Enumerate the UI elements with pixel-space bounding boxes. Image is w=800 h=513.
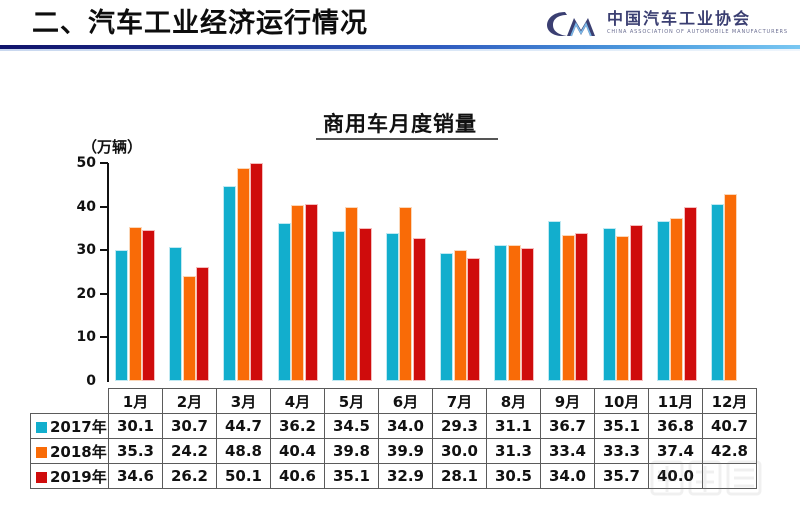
logo-text: 中国汽车工业协会 CHINA ASSOCIATION OF AUTOMOBILE… [607,10,788,36]
legend-item-2019年: 2019年 [31,464,109,489]
table-row: 2017年30.130.744.736.234.534.029.331.136.… [31,414,757,439]
logo-english-name: CHINA ASSOCIATION OF AUTOMOBILE MANUFACT… [607,28,788,37]
bar-group [548,163,588,381]
table-column-header-3: 3月 [217,389,271,414]
table-cell: 31.3 [487,439,541,464]
bar-2018年-6月 [399,207,412,381]
slide-header: 二、汽车工业经济运行情况 中国汽车工业协会 CHINA ASSOCIATION … [0,0,800,52]
table-cell [703,464,757,489]
legend-item-2018年: 2018年 [31,439,109,464]
table-cell: 50.1 [217,464,271,489]
bar-2018年-12月 [724,194,737,381]
table-cell: 30.7 [163,414,217,439]
bar-2018年-11月 [670,218,683,381]
bar-group [657,163,697,381]
bar-2017年-1月 [115,250,128,381]
table-column-header-11: 11月 [649,389,703,414]
header-divider-shadow [0,49,800,51]
table-cell: 44.7 [217,414,271,439]
table-cell: 40.0 [649,464,703,489]
bar-2019年-6月 [413,238,426,381]
bar-group [332,163,372,381]
y-axis-tick-mark [100,206,108,208]
legend-label: 2018年 [50,443,107,461]
y-axis-tick-label: 30 [62,242,96,258]
table-column-header-7: 7月 [433,389,487,414]
chart-title: 商用车月度销量 [0,108,800,138]
bar-2017年-9月 [548,221,561,381]
table-cell: 40.7 [703,414,757,439]
table-column-header-10: 10月 [595,389,649,414]
legend-label: 2019年 [50,468,107,486]
logo-chinese-name: 中国汽车工业协会 [607,10,788,28]
cam-logo-icon [545,8,599,38]
table-cell: 35.7 [595,464,649,489]
bar-2018年-5月 [345,207,358,381]
bar-2018年-4月 [291,205,304,381]
table-column-header-6: 6月 [379,389,433,414]
y-axis-tick-label: 50 [62,155,96,171]
bar-2019年-7月 [467,258,480,381]
y-axis-tick-mark [100,162,108,164]
table-cell: 31.1 [487,414,541,439]
table-body: 2017年30.130.744.736.234.534.029.331.136.… [31,414,757,489]
bar-2019年-1月 [142,230,155,381]
bar-2018年-7月 [454,250,467,381]
bar-2017年-2月 [169,247,182,381]
table-row: 2018年35.324.248.840.439.839.930.031.333.… [31,439,757,464]
legend-swatch-icon [36,447,47,458]
table-column-header-2: 2月 [163,389,217,414]
bar-2017年-10月 [603,228,616,381]
table-cell: 33.4 [541,439,595,464]
association-logo: 中国汽车工业协会 CHINA ASSOCIATION OF AUTOMOBILE… [545,8,788,38]
bar-group [711,163,751,381]
table-column-header-5: 5月 [325,389,379,414]
table-header-row: 1月2月3月4月5月6月7月8月9月10月11月12月 [31,389,757,414]
table-cell: 33.3 [595,439,649,464]
table-cell: 36.7 [541,414,595,439]
table-column-header-9: 9月 [541,389,595,414]
table-cell: 29.3 [433,414,487,439]
bar-2019年-4月 [305,204,318,381]
chart-plot-area [108,163,758,381]
bar-2019年-5月 [359,228,372,381]
bar-2017年-11月 [657,221,670,381]
table-cell: 34.6 [109,464,163,489]
table-corner-cell [31,389,109,414]
y-axis-tick-mark [100,336,108,338]
bar-2019年-3月 [250,163,263,381]
table-cell: 39.8 [325,439,379,464]
page-title: 二、汽车工业经济运行情况 [32,6,368,42]
bar-2019年-11月 [684,207,697,381]
bar-2018年-2月 [183,276,196,382]
bar-2018年-1月 [129,227,142,381]
legend-swatch-icon [36,472,47,483]
table-cell: 30.0 [433,439,487,464]
table-cell: 42.8 [703,439,757,464]
table-cell: 35.1 [325,464,379,489]
table-cell: 40.6 [271,464,325,489]
legend-item-2017年: 2017年 [31,414,109,439]
bar-2017年-3月 [223,186,236,381]
bar-2019年-2月 [196,267,209,381]
bar-2017年-12月 [711,204,724,381]
table-cell: 34.5 [325,414,379,439]
y-axis-tick-label: 0 [62,373,96,389]
table-cell: 26.2 [163,464,217,489]
bar-group [603,163,643,381]
y-axis-tick-mark [100,249,108,251]
y-axis-tick-mark [100,293,108,295]
data-table: 1月2月3月4月5月6月7月8月9月10月11月12月 2017年30.130.… [30,388,757,489]
bar-2017年-4月 [278,223,291,381]
table-cell: 37.4 [649,439,703,464]
bar-group [169,163,209,381]
table-cell: 30.1 [109,414,163,439]
bar-2018年-3月 [237,168,250,381]
bar-group [223,163,263,381]
legend-label: 2017年 [50,418,107,436]
table-row: 2019年34.626.250.140.635.132.928.130.534.… [31,464,757,489]
table-cell: 39.9 [379,439,433,464]
bar-2017年-7月 [440,253,453,381]
table-column-header-8: 8月 [487,389,541,414]
bar-2017年-8月 [494,245,507,381]
table-cell: 30.5 [487,464,541,489]
table-cell: 40.4 [271,439,325,464]
chart-title-underline [316,138,498,140]
table-cell: 28.1 [433,464,487,489]
bar-2019年-9月 [575,233,588,381]
bar-group [278,163,318,381]
bar-2017年-6月 [386,233,399,381]
y-axis-tick-label: 10 [62,329,96,345]
table-cell: 35.3 [109,439,163,464]
bar-group [115,163,155,381]
table-cell: 35.1 [595,414,649,439]
table-cell: 24.2 [163,439,217,464]
table-cell: 48.8 [217,439,271,464]
table-cell: 34.0 [379,414,433,439]
bar-2019年-10月 [630,225,643,381]
bar-2018年-9月 [562,235,575,381]
bar-group [494,163,534,381]
bar-2019年-8月 [521,248,534,381]
table-column-header-4: 4月 [271,389,325,414]
y-axis-unit-label: （万辆） [82,136,142,157]
table-cell: 34.0 [541,464,595,489]
bar-group [440,163,480,381]
bar-2018年-10月 [616,236,629,381]
bar-group [386,163,426,381]
y-axis-tick-label: 20 [62,286,96,302]
y-axis-tick-label: 40 [62,199,96,215]
table-cell: 36.2 [271,414,325,439]
bar-2018年-8月 [508,245,521,381]
table-column-header-1: 1月 [109,389,163,414]
table-cell: 32.9 [379,464,433,489]
legend-swatch-icon [36,422,47,433]
bar-2017年-5月 [332,231,345,381]
table-cell: 36.8 [649,414,703,439]
table-column-header-12: 12月 [703,389,757,414]
